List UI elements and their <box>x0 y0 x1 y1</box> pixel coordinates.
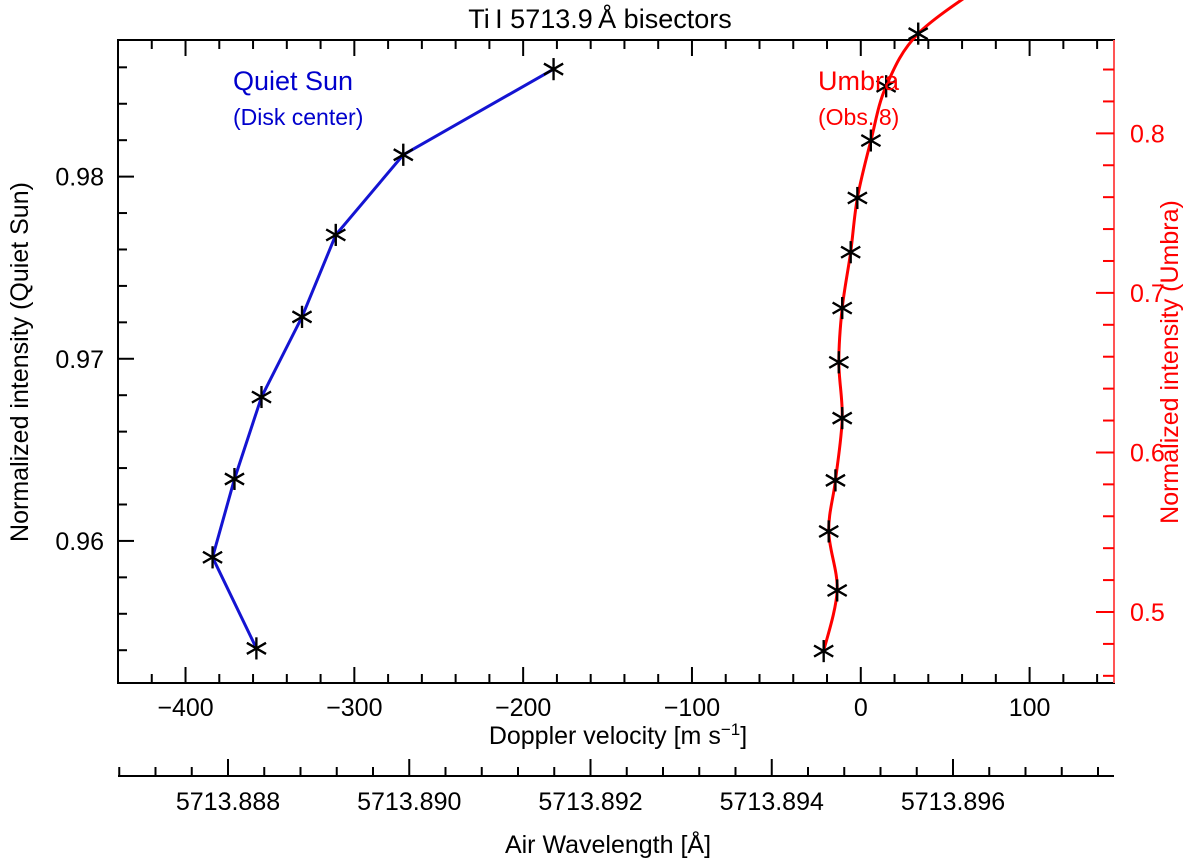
wavelength-tick-label: 5713.896 <box>901 788 1005 816</box>
wavelength-tick-label: 5713.890 <box>357 788 461 816</box>
wavelength-axis-title: Air Wavelength [Å] <box>505 829 711 859</box>
data-point-marker <box>225 468 244 490</box>
x-axis-tick-labels: −400−300−200−1000100 <box>157 694 1050 722</box>
y-right-tick-label: 0.8 <box>1130 120 1165 148</box>
y-left-tick-label: 0.96 <box>55 528 104 556</box>
data-point-marker <box>833 297 852 319</box>
series-line-umbra <box>824 0 1114 651</box>
wavelength-tick-label: 5713.888 <box>176 788 280 816</box>
data-point-marker <box>826 469 845 491</box>
y-axis-right-ticks <box>1096 70 1114 676</box>
data-point-marker <box>833 407 852 429</box>
x-tick-label: 100 <box>1009 694 1051 722</box>
data-point-marker <box>861 130 880 152</box>
data-point-marker <box>292 306 311 328</box>
legend-quiet-sun-sublabel: (Disk center) <box>233 104 363 130</box>
bisector-plot: Ti I 5713.9 Å bisectors −400−300−200−100… <box>0 0 1200 864</box>
legend-umbra: Umbra (Obs. 8) <box>818 66 900 130</box>
x-axis-ticks-top <box>118 40 1097 56</box>
legend-umbra-sublabel: (Obs. 8) <box>818 104 899 130</box>
x-tick-label: −400 <box>157 694 213 722</box>
legend-umbra-title: Umbra <box>818 66 900 96</box>
chart-figure: Ti I 5713.9 Å bisectors −400−300−200−100… <box>0 0 1200 864</box>
y-axis-left-ticks <box>118 67 134 650</box>
plot-frame <box>118 40 1114 683</box>
data-point-marker <box>829 351 848 373</box>
data-point-marker <box>814 640 833 662</box>
data-point-marker <box>252 386 271 408</box>
x-tick-label: −200 <box>495 694 551 722</box>
data-point-marker <box>247 637 266 659</box>
x-axis-title: Doppler velocity [m s−1] <box>489 720 747 750</box>
data-point-marker <box>203 546 222 568</box>
x-tick-label: −100 <box>664 694 720 722</box>
legend-quiet-sun-title: Quiet Sun <box>233 66 353 96</box>
x-tick-label: 0 <box>854 694 868 722</box>
x-axis-ticks <box>118 667 1097 683</box>
legend-quiet-sun: Quiet Sun (Disk center) <box>233 66 363 130</box>
data-point-marker <box>819 520 838 542</box>
data-point-marker <box>848 187 867 209</box>
y-left-tick-label: 0.98 <box>55 164 104 192</box>
y-right-tick-label: 0.5 <box>1130 599 1165 627</box>
wavelength-axis-tick-labels: 5713.8885713.8905713.8925713.8945713.896 <box>176 788 1005 816</box>
wavelength-axis-ticks <box>119 759 1098 776</box>
series-line-quiet-sun <box>213 69 554 648</box>
wavelength-tick-label: 5713.894 <box>720 788 824 816</box>
data-point-marker <box>544 58 563 80</box>
y-axis-right-title: Normalized intensity (Umbra) <box>1156 200 1184 524</box>
x-tick-label: −300 <box>326 694 382 722</box>
data-series-layer <box>203 0 1114 662</box>
data-point-marker <box>841 241 860 263</box>
y-axis-left-title: Normalized intensity (Quiet Sun) <box>6 182 34 542</box>
data-point-marker <box>828 579 847 601</box>
chart-title: Ti I 5713.9 Å bisectors <box>468 3 731 34</box>
y-left-tick-label: 0.97 <box>55 346 104 374</box>
y-axis-left-tick-labels: 0.960.970.98 <box>55 164 104 556</box>
wavelength-tick-label: 5713.892 <box>538 788 642 816</box>
